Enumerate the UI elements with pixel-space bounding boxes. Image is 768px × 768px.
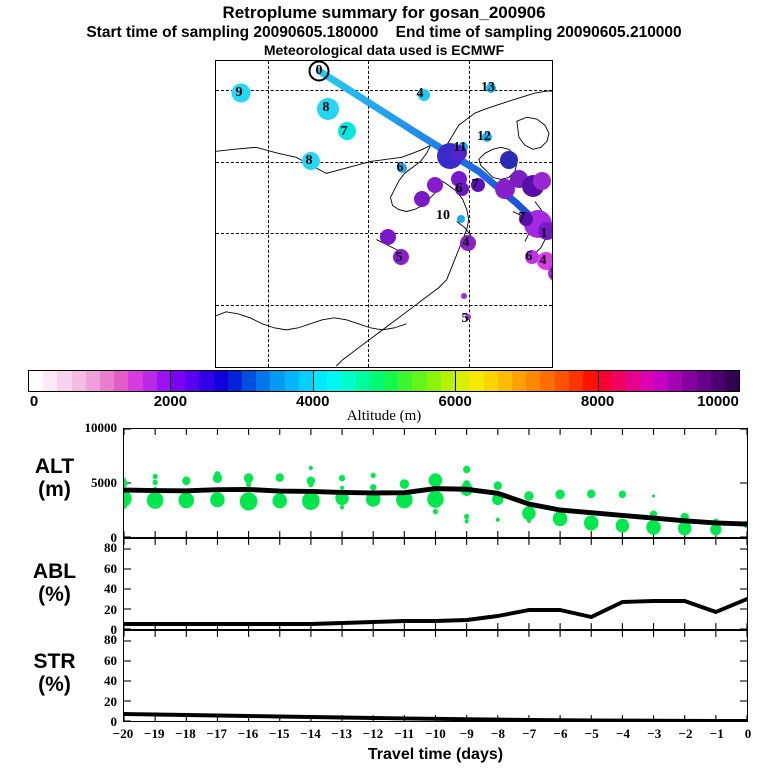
alt-bubble	[522, 506, 535, 520]
alt-bubble	[496, 518, 500, 522]
map-marker-label: 5	[551, 266, 554, 282]
alt-bubble	[494, 481, 502, 490]
alt-bubble	[179, 492, 195, 508]
y-axis-tick-label: 20	[57, 602, 117, 618]
colorbar-axis-title: Altitude (m)	[28, 408, 740, 425]
x-axis-tick-label: −7	[522, 726, 536, 742]
map-marker-label: 5	[462, 311, 469, 327]
map-marker	[414, 191, 430, 207]
x-axis-tick-label: −18	[175, 726, 195, 742]
y-axis-tick-label: 80	[57, 632, 117, 648]
page-title: Retroplume summary for gosan_200906	[0, 0, 768, 23]
x-axis-tick-label: −2	[679, 726, 693, 742]
sampling-time-line: Start time of sampling 20090605.180000 E…	[0, 23, 768, 42]
y-axis-tick-label: 80	[57, 540, 117, 556]
mean-line	[124, 599, 747, 624]
alt-bubble	[240, 492, 258, 510]
alt-bubble	[276, 473, 284, 482]
map-marker-label: 12	[477, 129, 491, 145]
map-marker-label: 8	[323, 100, 330, 116]
alt-bubble	[464, 514, 469, 519]
colorbar-divider	[598, 370, 599, 392]
alt-bubble	[308, 482, 313, 487]
alt-bubble	[527, 519, 531, 523]
map-marker-label: 6	[526, 249, 533, 265]
colorbar-dividers	[28, 370, 740, 392]
alt-bubble	[465, 519, 469, 523]
x-axis-tick-label: −3	[647, 726, 661, 742]
start-time-label: Start time of sampling 20090605.180000	[86, 24, 378, 41]
map-marker	[427, 177, 443, 193]
alt-bubble	[309, 466, 313, 470]
map-marker-label: 9	[236, 85, 243, 101]
abl-panel[interactable]	[123, 538, 748, 630]
alt-bubble	[339, 475, 345, 481]
alt-bubble	[652, 494, 655, 497]
alt-bubble	[371, 473, 376, 478]
y-axis-tick-label: 10000	[57, 420, 117, 436]
alt-bubble	[433, 509, 438, 514]
y-axis-tick-label: 0	[57, 714, 117, 730]
map-marker-label: 6	[456, 181, 463, 197]
altitude-colorbar: 0200040006000800010000	[28, 370, 740, 413]
alt-bubble	[246, 482, 251, 487]
map-markers: 9878413121166710715464550	[216, 61, 552, 367]
alt-bubble	[340, 486, 344, 490]
title-block: Retroplume summary for gosan_200906 Star…	[0, 0, 768, 59]
alt-bubble	[400, 479, 409, 489]
met-data-label: Meteorological data used is ECMWF	[0, 42, 768, 59]
alt-bubble	[153, 480, 158, 485]
alt-bubble	[429, 473, 442, 487]
map-marker-label: 7	[472, 177, 479, 193]
y-axis-tick-label: 5000	[57, 475, 117, 491]
map-marker-label: 7	[519, 210, 526, 226]
alt-bubble	[619, 491, 626, 499]
x-axis-tick-labels: −20−19−18−17−16−15−14−13−12−11−10−9−8−7−…	[123, 726, 748, 744]
alt-panel[interactable]	[123, 428, 748, 538]
x-axis-tick-label: −16	[238, 726, 258, 742]
x-axis-tick-label: −1	[710, 726, 724, 742]
map-marker-label: 10	[436, 208, 450, 224]
colorbar-divider	[313, 370, 314, 392]
colorbar-divider	[455, 370, 456, 392]
y-axis-tick-label: 60	[57, 653, 117, 669]
alt-bubble	[553, 511, 568, 526]
y-axis-tick-label: 20	[57, 694, 117, 710]
x-axis-tick-label: 0	[745, 726, 752, 742]
map-marker-label: 5	[396, 250, 403, 266]
x-axis-tick-label: −11	[394, 726, 414, 742]
map-marker-label: 4	[540, 253, 547, 269]
map-marker	[461, 293, 467, 299]
colorbar-divider	[170, 370, 171, 392]
x-axis-tick-label: −5	[585, 726, 599, 742]
alt-bubble	[214, 471, 220, 477]
alt-bubble	[147, 492, 164, 509]
map-marker-label: 4	[463, 235, 470, 251]
alt-bubble	[244, 473, 253, 483]
retroplume-map[interactable]: 9878413121166710715464550	[215, 60, 553, 368]
alt-bubble	[524, 491, 533, 501]
map-marker-label: 13	[481, 80, 495, 96]
alt-bubble	[153, 474, 158, 479]
alt-bubble	[587, 489, 595, 498]
map-marker-label: 7	[341, 124, 348, 140]
y-axis-tick-label: 40	[57, 673, 117, 689]
alt-bubble	[584, 515, 599, 530]
alt-bubble	[302, 492, 320, 510]
map-marker-label: 11	[453, 140, 466, 156]
alt-bubble	[370, 484, 376, 490]
alt-bubble	[182, 477, 190, 486]
y-axis-tick-label: 60	[57, 561, 117, 577]
map-marker	[533, 172, 551, 190]
alt-bubble	[272, 493, 287, 508]
alt-bubble	[340, 505, 344, 509]
x-axis-title: Travel time (days)	[123, 746, 748, 764]
map-marker-label: 6	[397, 160, 404, 176]
alt-bubble	[646, 520, 661, 535]
x-axis-tick-label: −9	[460, 726, 474, 742]
map-marker	[457, 215, 465, 223]
x-axis-tick-label: −4	[616, 726, 630, 742]
y-axis-tick-label: 40	[57, 581, 117, 597]
map-marker	[380, 229, 396, 245]
map-marker-label: 4	[417, 86, 424, 102]
x-axis-tick-label: −8	[491, 726, 505, 742]
alt-bubble	[124, 480, 128, 488]
x-axis-tick-label: −14	[300, 726, 320, 742]
alt-bubble	[427, 491, 444, 508]
map-marker-label: 0	[316, 63, 323, 79]
map-marker-label: 1	[541, 226, 548, 242]
end-time-label: End time of sampling 20090605.210000	[396, 24, 682, 41]
x-axis-tick-label: −17	[207, 726, 227, 742]
x-axis-tick-label: −10	[425, 726, 445, 742]
alt-bubble	[210, 492, 225, 507]
x-axis-tick-label: −19	[144, 726, 164, 742]
x-axis-tick-label: −6	[554, 726, 568, 742]
str-panel[interactable]	[123, 630, 748, 722]
map-marker	[500, 151, 518, 169]
x-axis-tick-label: −13	[332, 726, 352, 742]
map-marker-label: 8	[306, 153, 313, 169]
alt-bubble	[463, 466, 470, 474]
alt-bubble	[555, 489, 564, 499]
alt-bubble	[616, 519, 629, 533]
x-axis-tick-label: −15	[269, 726, 289, 742]
x-axis-tick-label: −12	[363, 726, 383, 742]
